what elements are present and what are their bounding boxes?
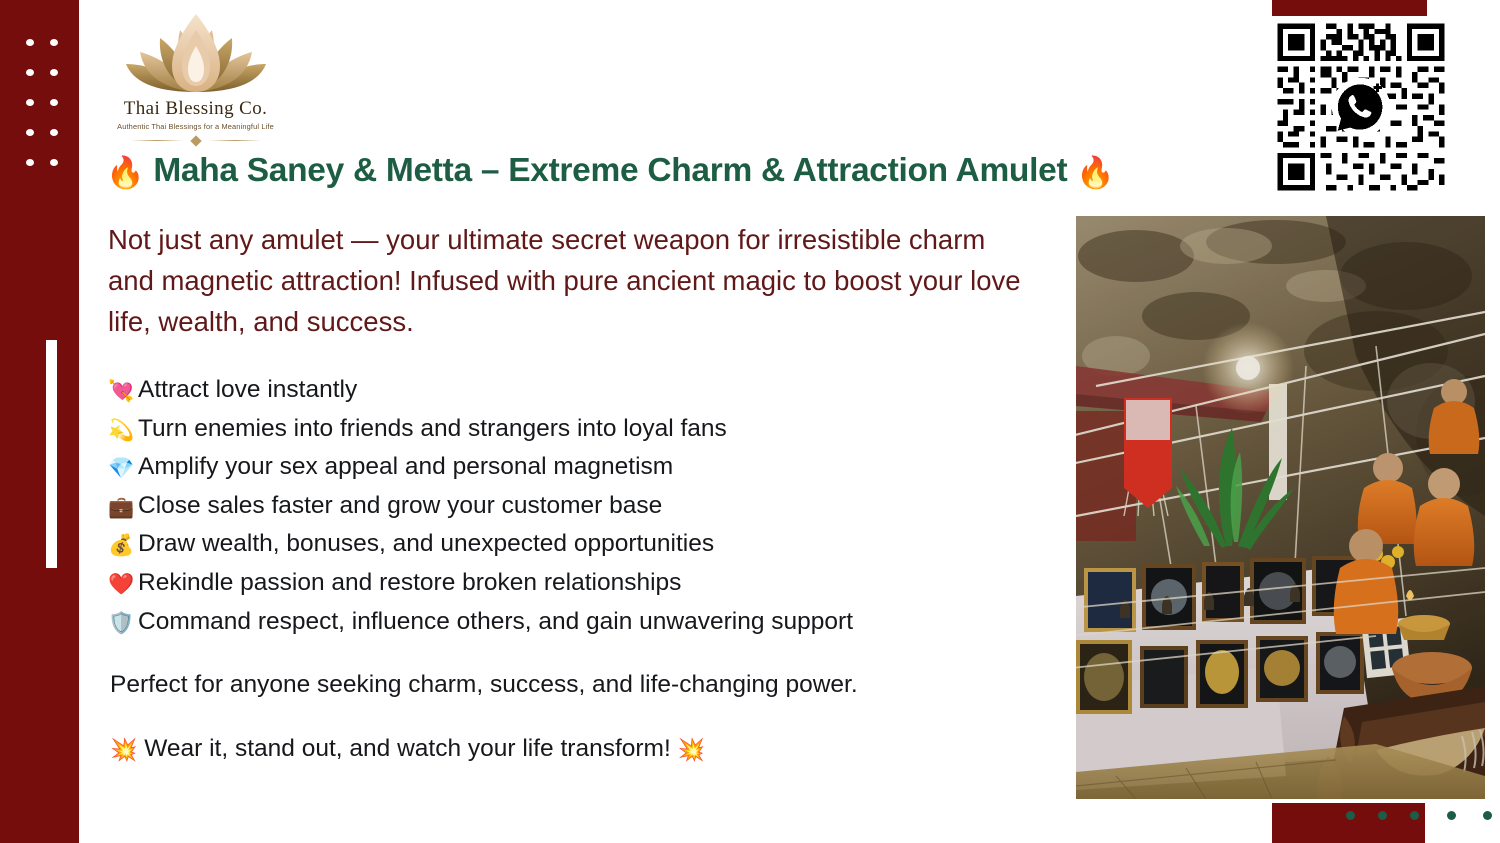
logo-divider xyxy=(131,136,261,145)
benefits-list: 💘Attract love instantly 💫Turn enemies in… xyxy=(108,372,1068,642)
list-item-label: Command respect, influence others, and g… xyxy=(138,608,853,635)
list-item: ❤️Rekindle passion and restore broken re… xyxy=(108,565,1068,604)
gem-stone-icon: 💎 xyxy=(108,451,138,488)
decor-dot xyxy=(1378,811,1387,820)
list-item: 💰Draw wealth, bonuses, and unexpected op… xyxy=(108,526,1068,565)
list-item-label: Amplify your sex appeal and personal mag… xyxy=(138,453,673,480)
briefcase-icon: 💼 xyxy=(108,490,138,527)
decor-dot xyxy=(26,159,34,166)
qr-code-icon xyxy=(1272,18,1450,196)
intro-paragraph: Not just any amulet — your ultimate secr… xyxy=(108,219,1038,342)
brand-name: Thai Blessing Co. xyxy=(108,98,283,120)
lotus-flame-icon xyxy=(120,8,272,100)
list-item: 💎Amplify your sex appeal and personal ma… xyxy=(108,449,1068,488)
qr-top-accent-bar xyxy=(1272,0,1427,16)
closing-statement: Perfect for anyone seeking charm, succes… xyxy=(110,668,858,702)
list-item: 💫Turn enemies into friends and strangers… xyxy=(108,411,1068,450)
shield-icon: 🛡️ xyxy=(108,606,138,643)
call-to-action-text: Wear it, stand out, and watch your life … xyxy=(144,735,671,762)
list-item-label: Turn enemies into friends and strangers … xyxy=(138,415,727,442)
ceremony-photo-art xyxy=(1076,216,1485,799)
decor-dot xyxy=(26,69,34,76)
brand-tagline: Authentic Thai Blessings for a Meaningfu… xyxy=(108,122,283,131)
fire-icon-left: 🔥 xyxy=(106,155,144,190)
page-title-text: Maha Saney & Metta – Extreme Charm & Att… xyxy=(153,152,1067,189)
money-bag-icon: 💰 xyxy=(108,528,138,565)
vertical-accent-line xyxy=(46,340,57,568)
decor-dot xyxy=(26,39,34,46)
list-item-label: Close sales faster and grow your custome… xyxy=(138,492,662,519)
decor-dot xyxy=(1410,811,1419,820)
list-item: 💼Close sales faster and grow your custom… xyxy=(108,488,1068,527)
list-item-label: Rekindle passion and restore broken rela… xyxy=(138,569,681,596)
decor-dot xyxy=(50,129,58,136)
poster-canvas: Thai Blessing Co. Authentic Thai Blessin… xyxy=(0,0,1500,843)
list-item: 💘Attract love instantly xyxy=(108,372,1068,411)
brand-logo: Thai Blessing Co. Authentic Thai Blessin… xyxy=(108,8,283,148)
bottom-dot-grid xyxy=(1330,803,1500,843)
list-item-label: Draw wealth, bonuses, and unexpected opp… xyxy=(138,530,714,557)
left-dot-grid xyxy=(18,27,66,177)
decor-dot xyxy=(26,99,34,106)
fire-icon-right: 🔥 xyxy=(1076,155,1114,190)
list-item-label: Attract love instantly xyxy=(138,376,357,403)
collision-icon-right: 💥 xyxy=(678,737,705,762)
heart-with-arrow-icon: 💘 xyxy=(108,374,138,411)
decor-dot xyxy=(1483,811,1492,820)
ceremony-photo xyxy=(1076,216,1485,799)
decor-dot xyxy=(26,129,34,136)
decor-dot xyxy=(50,159,58,166)
red-heart-icon: ❤️ xyxy=(108,567,138,604)
call-to-action: 💥 Wear it, stand out, and watch your lif… xyxy=(110,732,705,767)
list-item: 🛡️Command respect, influence others, and… xyxy=(108,604,1068,643)
decor-dot xyxy=(1447,811,1456,820)
decor-dot xyxy=(1346,811,1355,820)
page-title: 🔥 Maha Saney & Metta – Extreme Charm & A… xyxy=(106,152,1256,191)
decor-dot xyxy=(50,69,58,76)
collision-icon-left: 💥 xyxy=(110,737,137,762)
decor-dot xyxy=(50,39,58,46)
left-decor-bar xyxy=(0,0,79,843)
decor-dot xyxy=(50,99,58,106)
whatsapp-qr-code[interactable] xyxy=(1272,18,1450,196)
dizzy-star-icon: 💫 xyxy=(108,413,138,450)
